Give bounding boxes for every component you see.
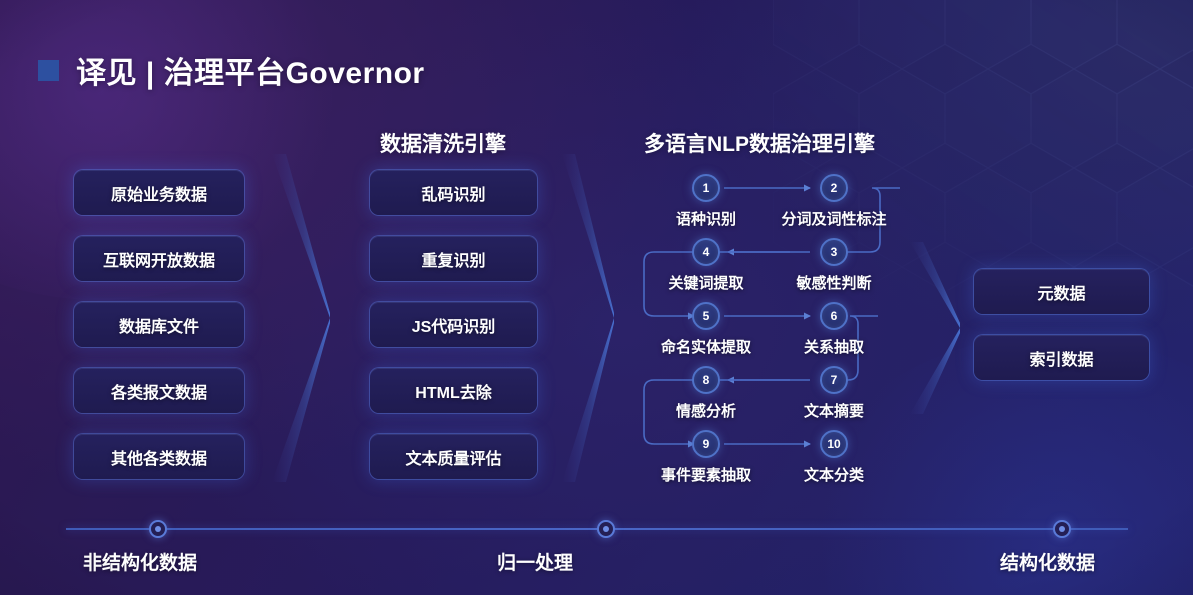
nlp-flow-diagram: 1 语种识别 2 分词及词性标注 3 敏感性判断 4 关键词提取 5 命名实体提… xyxy=(632,170,922,490)
nlp-step-number: 3 xyxy=(820,238,848,266)
nlp-step-label: 敏感性判断 xyxy=(796,272,871,293)
source-card[interactable]: 原始业务数据 xyxy=(74,170,244,215)
nlp-step-label: 关键词提取 xyxy=(668,272,743,293)
nlp-step-number: 6 xyxy=(820,302,848,330)
output-card[interactable]: 元数据 xyxy=(974,269,1149,314)
nlp-step-number: 8 xyxy=(692,366,720,394)
timeline-stage-label: 结构化数据 xyxy=(1000,548,1095,575)
source-card[interactable]: 互联网开放数据 xyxy=(74,236,244,281)
page-header: 译见 | 治理平台Governor xyxy=(38,48,425,92)
nlp-step-label: 情感分析 xyxy=(676,400,736,421)
cleaning-card[interactable]: 重复识别 xyxy=(370,236,537,281)
nlp-step-number: 7 xyxy=(820,366,848,394)
circle-dot-icon xyxy=(1053,520,1071,538)
timeline-stage-label: 归一处理 xyxy=(497,548,573,575)
slide-canvas: 译见 | 治理平台Governor 数据清洗引擎 多语言NLP数据治理引擎 原始… xyxy=(0,0,1193,595)
chevron-right-icon xyxy=(560,148,620,488)
source-card[interactable]: 其他各类数据 xyxy=(74,434,244,479)
circle-dot-icon xyxy=(597,520,615,538)
nlp-step-label: 语种识别 xyxy=(676,208,736,229)
cleaning-card[interactable]: HTML去除 xyxy=(370,368,537,413)
nlp-step-label: 分词及词性标注 xyxy=(781,208,886,229)
nlp-step-label: 命名实体提取 xyxy=(661,336,751,357)
nlp-step-number: 5 xyxy=(692,302,720,330)
timeline-stage-label: 非结构化数据 xyxy=(83,548,197,575)
output-card[interactable]: 索引数据 xyxy=(974,335,1149,380)
source-card[interactable]: 各类报文数据 xyxy=(74,368,244,413)
nlp-step-label: 文本摘要 xyxy=(804,400,864,421)
source-card[interactable]: 数据库文件 xyxy=(74,302,244,347)
cleaning-column-heading: 数据清洗引擎 xyxy=(380,128,506,158)
circle-dot-icon xyxy=(149,520,167,538)
page-title: 译见 | 治理平台Governor xyxy=(76,48,425,92)
nlp-column-heading: 多语言NLP数据治理引擎 xyxy=(644,128,875,158)
nlp-step-label: 文本分类 xyxy=(804,464,864,485)
cleaning-card[interactable]: JS代码识别 xyxy=(370,302,537,347)
square-marker-icon xyxy=(38,60,59,81)
cleaning-card[interactable]: 文本质量评估 xyxy=(370,434,537,479)
nlp-step-number: 1 xyxy=(692,174,720,202)
nlp-step-number: 9 xyxy=(692,430,720,458)
nlp-step-number: 2 xyxy=(820,174,848,202)
nlp-step-number: 4 xyxy=(692,238,720,266)
timeline-axis xyxy=(66,528,1128,530)
nlp-step-number: 10 xyxy=(820,430,848,458)
nlp-step-label: 关系抽取 xyxy=(804,336,864,357)
chevron-right-icon xyxy=(268,148,338,488)
cleaning-card[interactable]: 乱码识别 xyxy=(370,170,537,215)
nlp-step-label: 事件要素抽取 xyxy=(661,464,751,485)
